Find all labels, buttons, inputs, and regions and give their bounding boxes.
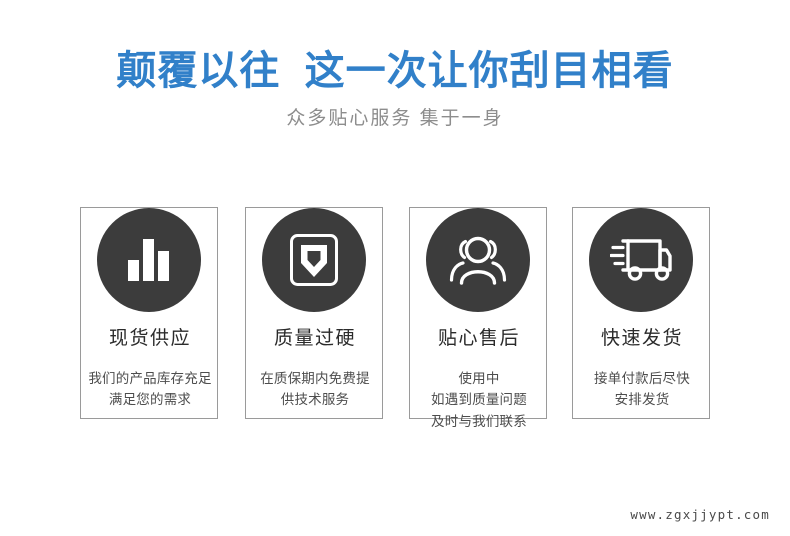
feature-card-stock[interactable]: 现货供应 我们的产品库存充足 满足您的需求 — [80, 207, 218, 419]
feature-card-description: 使用中 如遇到质量问题 及时与我们联系 — [401, 368, 557, 432]
page-header: 颠覆以往 这一次让你刮目相看 众多贴心服务 集于一身 — [0, 0, 790, 131]
customer-group-icon — [449, 235, 507, 285]
icon-badge — [97, 208, 201, 312]
page-title: 颠覆以往 这一次让你刮目相看 — [0, 0, 790, 95]
icon-badge — [262, 208, 366, 312]
feature-card-description: 在质保期内免费提 供技术服务 — [237, 368, 393, 411]
delivery-truck-icon — [610, 237, 672, 283]
feature-card-title: 质量过硬 — [246, 328, 384, 351]
feature-card-title: 现货供应 — [81, 328, 219, 351]
feature-card-description: 接单付款后尽快 安排发货 — [564, 368, 720, 411]
feature-cards-row: 现货供应 我们的产品库存充足 满足您的需求 质量过硬 在质保期内免费提 供技术服… — [0, 173, 790, 423]
feature-card-title: 快速发货 — [573, 328, 711, 351]
bar-chart-icon — [126, 239, 172, 281]
feature-card-title: 贴心售后 — [410, 328, 548, 351]
page-subtitle: 众多贴心服务 集于一身 — [0, 95, 790, 131]
feature-card-shipping[interactable]: 快速发货 接单付款后尽快 安排发货 — [572, 207, 710, 419]
feature-card-quality[interactable]: 质量过硬 在质保期内免费提 供技术服务 — [245, 207, 383, 419]
site-watermark: www.zgxjjypt.com — [630, 507, 770, 522]
feature-card-description: 我们的产品库存充足 满足您的需求 — [72, 368, 228, 411]
icon-badge — [426, 208, 530, 312]
quality-shield-icon — [289, 233, 339, 287]
icon-badge — [589, 208, 693, 312]
feature-card-support[interactable]: 贴心售后 使用中 如遇到质量问题 及时与我们联系 — [409, 207, 547, 419]
